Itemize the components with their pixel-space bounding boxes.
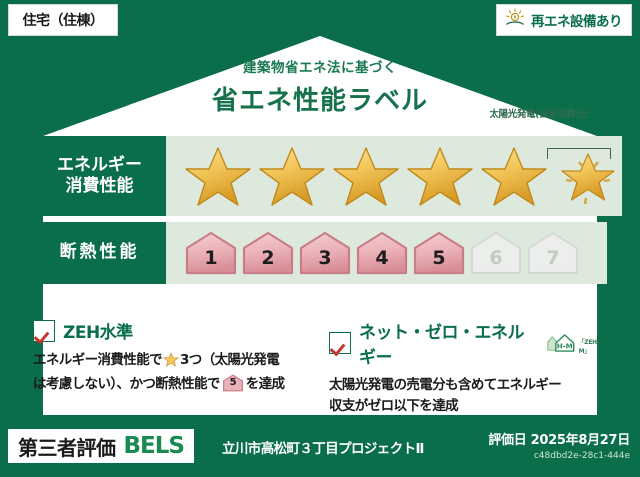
renewable-equipment-badge: 再エネ設備あり [496,4,632,36]
row-insulation: 断熱性能 1 [33,222,607,284]
check-icon-nze [329,332,351,354]
criterion-nze-body: 太陽光発電の売電分も含めてエネルギー収支がゼロ以下を達成 [329,375,607,417]
insulation-step-3: 3 [298,230,352,276]
insulation-step-7-num: 7 [526,247,580,269]
star-icon-3 [332,144,400,209]
renewable-badge-label: 再エネ設備あり [531,10,622,30]
criterion-nze-line1: 太陽光発電の売電分も含めてエネルギー [329,377,561,393]
zeh-m-logo: H-M 「ZEH-M」 [546,331,607,355]
zeh-m-logo-caption: 「ZEH-M」 [579,337,607,355]
row-label-line2: 消費性能 [66,176,134,197]
inline-house-badge: 5 [222,374,244,392]
inline-star-icon [163,352,179,374]
title-subtitle: 建築物省エネ法に基づく [0,56,640,76]
criterion-zeh-level: ZEH水準 エネルギー消費性能で3つ（太陽光発電は考慮しない）、かつ断熱性能で5… [33,318,311,417]
row-energy-consumption: エネルギー 消費性能 [33,136,607,216]
row-body-energy-consumption: 太陽光発電(自家消費)分 [166,136,622,216]
evaluation-id: c48dbd2e-28c1-444e [488,451,630,461]
criteria-section: ZEH水準 エネルギー消費性能で3つ（太陽光発電は考慮しない）、かつ断熱性能で5… [33,318,607,417]
insulation-step-5: 5 [412,230,466,276]
star-rating-group: 太陽光発電(自家消費)分 [166,144,622,209]
criterion-nze-line2: 収支がゼロ以下を達成 [329,398,458,414]
rating-rows: エネルギー 消費性能 [33,136,607,290]
evaluation-info: 評価日 2025年8月27日 c48dbd2e-28c1-444e [488,429,630,461]
row-label-line1: エネルギー [57,155,142,176]
criterion-zeh-header: ZEH水準 [33,318,311,343]
criterion-net-zero-energy: ネット・ゼロ・エネルギー H-M 「ZEH-M」 太陽光発電の売電分も含めてエネ… [329,318,607,417]
insulation-step-4-num: 4 [355,247,409,269]
bels-jp-label: 第三者評価 [18,432,116,461]
bels-en-label: BELS [124,433,184,459]
star-icon-4 [406,144,474,209]
insulation-step-3-num: 3 [298,247,352,269]
insulation-scale-group: 1 2 3 [166,230,580,276]
house-type-tab-label: 住宅（住棟） [23,10,104,30]
insulation-step-7: 7 [526,230,580,276]
house-type-tab: 住宅（住棟） [8,4,118,36]
solar-bracket [547,148,611,159]
project-name: 立川市高松町３丁目プロジェクトⅡ [222,437,424,457]
row-label-energy-consumption: エネルギー 消費性能 [33,136,166,216]
criterion-zeh-text-pre: エネルギー消費性能で [33,352,162,368]
star-icon-2 [258,144,326,209]
insulation-step-2: 2 [241,230,295,276]
footer-bar: 第三者評価 BELS 立川市高松町３丁目プロジェクトⅡ 評価日 2025年8月2… [0,415,640,477]
bels-certification-box: 第三者評価 BELS [8,429,194,463]
energy-performance-label: 住宅（住棟） 再エネ設備あり 建築物省エネ法に基づく 省エネ性能ラベル [0,0,640,477]
insulation-step-6: 6 [469,230,523,276]
insulation-step-1-num: 1 [184,247,238,269]
star-icon-5 [480,144,548,209]
criterion-nze-header: ネット・ゼロ・エネルギー H-M 「ZEH-M」 [329,318,607,368]
star-icon-1 [184,144,252,209]
insulation-step-2-num: 2 [241,247,295,269]
criterion-zeh-body: エネルギー消費性能で3つ（太陽光発電は考慮しない）、かつ断熱性能で5を達成 [33,350,311,395]
criterion-zeh-title: ZEH水準 [63,318,133,343]
row-label-insulation-text: 断熱性能 [60,242,140,263]
insulation-step-5-num: 5 [412,247,466,269]
solar-star-annotation: 太陽光発電(自家消費)分 [464,106,614,120]
check-icon-zeh [33,320,55,342]
insulation-step-1: 1 [184,230,238,276]
svg-text:H-M: H-M [557,341,573,350]
criterion-zeh-text-count: 3つ（太陽光発電 [180,352,279,368]
row-body-insulation: 1 2 3 [166,222,607,284]
criterion-zeh-text-post: を達成 [246,376,285,392]
sun-renewable-icon [504,8,526,32]
inline-house-number: 5 [222,375,244,391]
evaluation-date: 評価日 2025年8月27日 [488,429,630,448]
row-label-insulation: 断熱性能 [33,222,166,284]
insulation-step-6-num: 6 [469,247,523,269]
criterion-nze-title: ネット・ゼロ・エネルギー [359,318,536,368]
criterion-zeh-text-mid: は考慮しない）、かつ断熱性能で [33,376,220,392]
insulation-step-4: 4 [355,230,409,276]
